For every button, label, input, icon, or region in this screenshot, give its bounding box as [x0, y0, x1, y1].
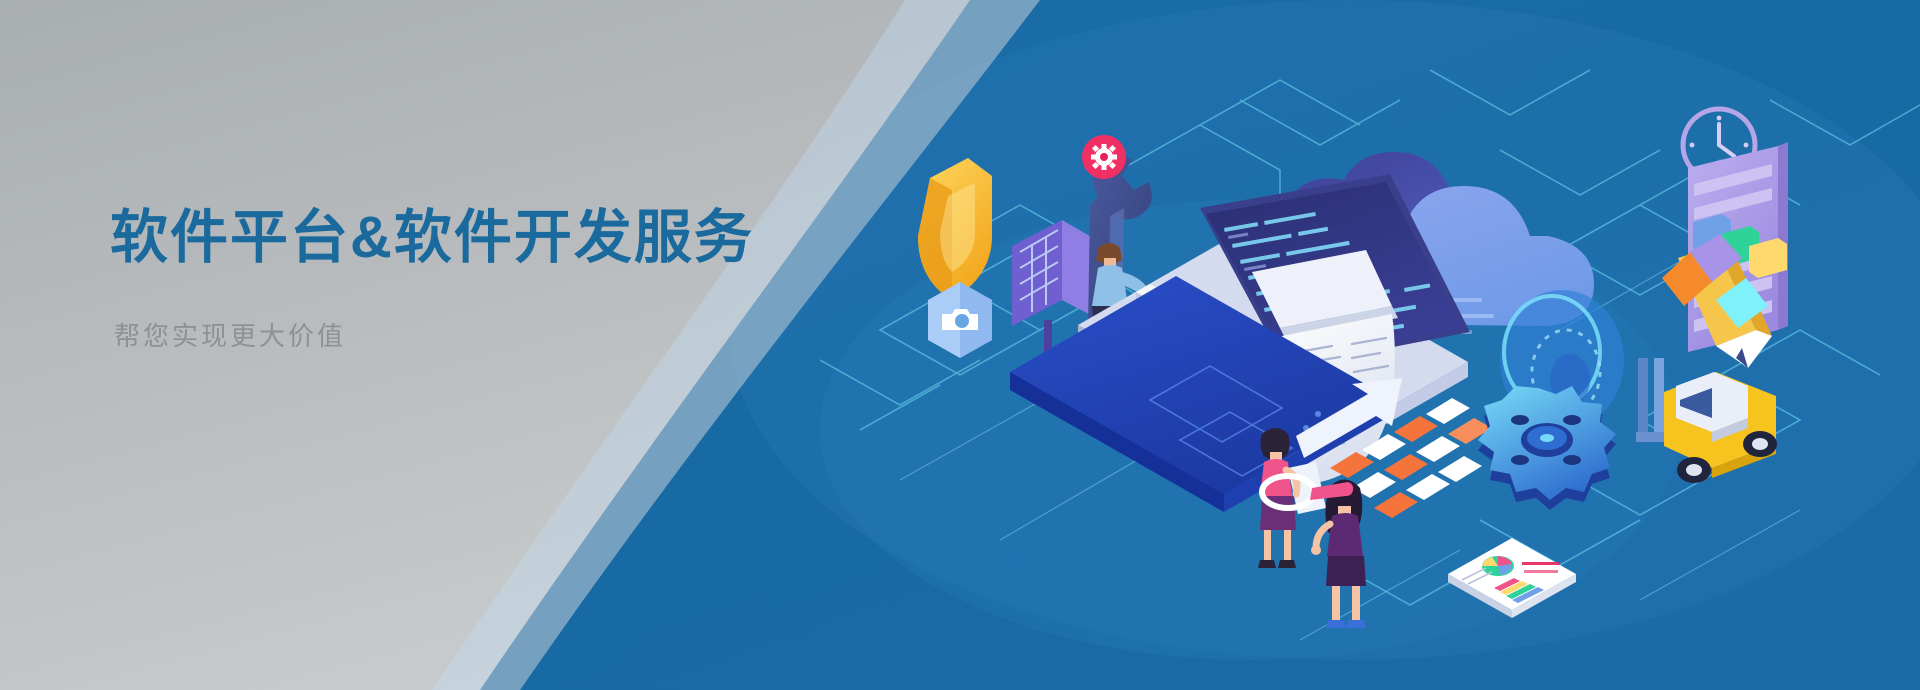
page-title: 软件平台&软件开发服务	[110, 205, 870, 272]
hero-text-block: 软件平台&软件开发服务 帮您实现更大价值	[110, 205, 870, 353]
hero-banner: 软件平台&软件开发服务 帮您实现更大价值	[0, 0, 1920, 690]
page-subtitle: 帮您实现更大价值	[114, 316, 870, 353]
